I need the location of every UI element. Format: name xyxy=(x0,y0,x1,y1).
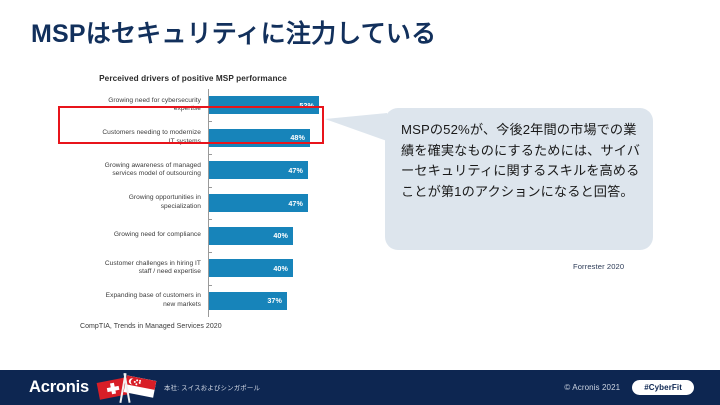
bar-category-label: Customers needing to modernize IT system… xyxy=(58,129,205,146)
bar-value-label: 47% xyxy=(288,199,308,208)
bar-fill: 40% xyxy=(209,259,293,277)
bar-category-label-line1: Growing awareness of managed xyxy=(58,162,201,171)
bar-track: 47% xyxy=(209,154,328,187)
bar-category-label-line2: new markets xyxy=(58,301,201,310)
bar-category-label-line2: IT systems xyxy=(58,138,201,147)
table-row: Expanding base of customers in new marke… xyxy=(58,284,328,317)
axis-tick xyxy=(208,187,212,188)
bar-value-label: 37% xyxy=(267,296,287,305)
bar-category-label: Growing awareness of managed services mo… xyxy=(58,162,205,179)
bar-fill: 52% xyxy=(209,96,319,114)
bar-track: 40% xyxy=(209,219,328,252)
bar-category-label-line2: specialization xyxy=(58,203,201,212)
bar-category-label: Growing opportunities in specialization xyxy=(58,194,205,211)
acronis-logo: Acronis xyxy=(29,378,89,397)
chart-plot-area: Growing need for cybersecurity expertise… xyxy=(58,89,328,317)
bar-category-label-line2: expertise xyxy=(58,105,201,114)
callout-pointer xyxy=(325,113,387,141)
callout-source-label: Forrester 2020 xyxy=(573,262,624,271)
bar-value-label: 52% xyxy=(299,101,319,110)
bar-value-label: 40% xyxy=(273,231,293,240)
axis-tick xyxy=(208,121,212,122)
bar-fill: 40% xyxy=(209,227,293,245)
bar-track: 48% xyxy=(209,122,328,155)
bar-category-label-line1: Expanding base of customers in xyxy=(58,292,201,301)
bar-chart: Perceived drivers of positive MSP perfor… xyxy=(58,74,328,330)
bar-category-label: Growing need for compliance xyxy=(58,231,205,240)
bar-category-label-line1: Growing opportunities in xyxy=(58,194,201,203)
axis-tick xyxy=(208,252,212,253)
axis-tick xyxy=(208,285,212,286)
bar-category-label: Expanding base of customers in new marke… xyxy=(58,292,205,309)
star-icon xyxy=(139,379,141,381)
footer-bar: Acronis 本社: スイスおよびシンガポール © Acronis 2021 … xyxy=(0,370,720,405)
copyright-label: © Acronis 2021 xyxy=(564,383,620,392)
table-row: Growing opportunities in specialization … xyxy=(58,187,328,220)
bar-category-label-line1: Customers needing to modernize xyxy=(58,129,201,138)
bar-rows: Growing need for cybersecurity expertise… xyxy=(58,89,328,317)
bar-track: 37% xyxy=(209,284,328,317)
bar-fill: 47% xyxy=(209,194,308,212)
flags-group xyxy=(98,375,156,401)
bar-category-label: Growing need for cybersecurity expertise xyxy=(58,97,205,114)
bar-track: 40% xyxy=(209,252,328,285)
table-row: Growing need for cybersecurity expertise… xyxy=(58,89,328,122)
table-row: Growing need for compliance 40% xyxy=(58,219,328,252)
bar-value-label: 40% xyxy=(273,264,293,273)
bar-track: 52% xyxy=(209,89,328,122)
bar-category-label-line2: services model of outsourcing xyxy=(58,170,201,179)
table-row: Customers needing to modernize IT system… xyxy=(58,122,328,155)
chart-title: Perceived drivers of positive MSP perfor… xyxy=(58,74,328,83)
axis-tick xyxy=(208,154,212,155)
footer-right-group: © Acronis 2021 #CyberFit xyxy=(564,380,694,395)
bar-value-label: 48% xyxy=(290,133,310,142)
bar-category-label-line1: Customer challenges in hiring IT xyxy=(58,260,201,269)
chart-source-label: CompTIA, Trends in Managed Services 2020 xyxy=(58,323,328,330)
table-row: Growing awareness of managed services mo… xyxy=(58,154,328,187)
bar-fill: 47% xyxy=(209,161,308,179)
callout-text: MSPの52%が、今後2年間の市場での業績を確実なものにするためには、サイバーセ… xyxy=(401,120,645,202)
bar-fill: 37% xyxy=(209,292,287,310)
bar-category-label: Customer challenges in hiring IT staff /… xyxy=(58,260,205,277)
cyberfit-badge: #CyberFit xyxy=(632,380,694,395)
bar-value-label: 47% xyxy=(288,166,308,175)
bar-category-label-line2: staff / need expertise xyxy=(58,268,201,277)
bar-category-label-line1: Growing need for compliance xyxy=(58,231,201,240)
bar-category-label-line1: Growing need for cybersecurity xyxy=(58,97,201,106)
table-row: Customer challenges in hiring IT staff /… xyxy=(58,252,328,285)
axis-tick xyxy=(208,219,212,220)
headquarters-label: 本社: スイスおよびシンガポール xyxy=(164,383,260,392)
bar-fill: 48% xyxy=(209,129,310,147)
bar-track: 47% xyxy=(209,187,328,220)
page-title: MSPはセキュリティに注力している xyxy=(31,14,436,50)
